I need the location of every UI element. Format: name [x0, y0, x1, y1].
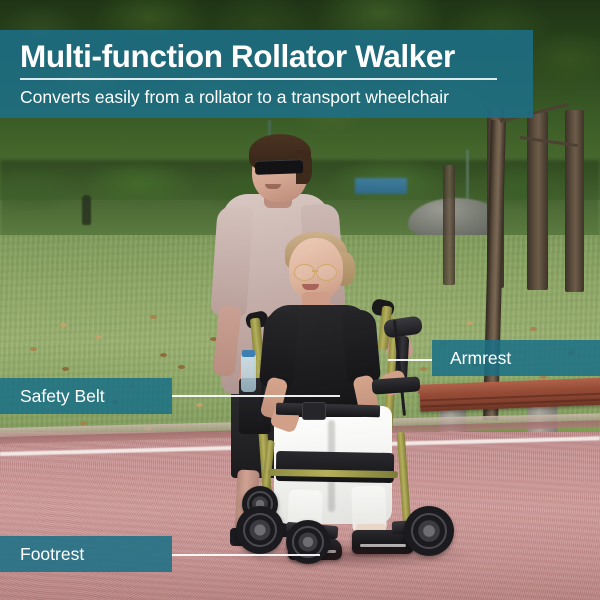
- callout-label-safety-belt: Safety Belt: [20, 386, 105, 407]
- blue-tarp: [355, 178, 407, 194]
- product-feature-image: Multi-function Rollator Walker Converts …: [0, 0, 600, 600]
- tree-trunk: [565, 110, 584, 292]
- title-divider: [20, 78, 497, 80]
- seat-cushion: [276, 451, 395, 483]
- callout-armrest: Armrest: [432, 340, 600, 376]
- callout-leader-line-safety-belt: [172, 395, 340, 397]
- front-wheel: [286, 520, 330, 564]
- mans-sleeve: [210, 205, 254, 317]
- callout-leader-line-armrest: [388, 359, 432, 361]
- eyeglasses-icon: [294, 264, 315, 281]
- mans-mouth: [265, 184, 281, 189]
- callout-safety-belt: Safety Belt: [0, 378, 172, 414]
- callout-footrest: Footrest: [0, 536, 172, 572]
- callout-label-armrest: Armrest: [450, 348, 511, 369]
- water-bottle: [241, 354, 256, 392]
- eyeglasses-bridge: [312, 270, 318, 272]
- page-subtitle: Converts easily from a rollator to a tra…: [20, 82, 515, 112]
- bottle-cap: [242, 350, 255, 357]
- distant-pedestrian: [82, 195, 91, 225]
- safety-belt-buckle: [302, 402, 326, 420]
- rear-wheel: [404, 506, 454, 556]
- callout-leader-line-footrest: [172, 554, 320, 556]
- tree-trunk: [443, 165, 455, 285]
- page-title: Multi-function Rollator Walker: [20, 36, 515, 76]
- sunglasses-icon: [255, 159, 303, 175]
- womans-sleeve: [341, 309, 381, 386]
- womans-sleeve: [259, 311, 299, 390]
- front-wheel: [236, 506, 284, 554]
- title-banner: Multi-function Rollator Walker Converts …: [0, 30, 533, 118]
- callout-label-footrest: Footrest: [20, 544, 84, 565]
- eyeglasses-icon: [316, 264, 337, 281]
